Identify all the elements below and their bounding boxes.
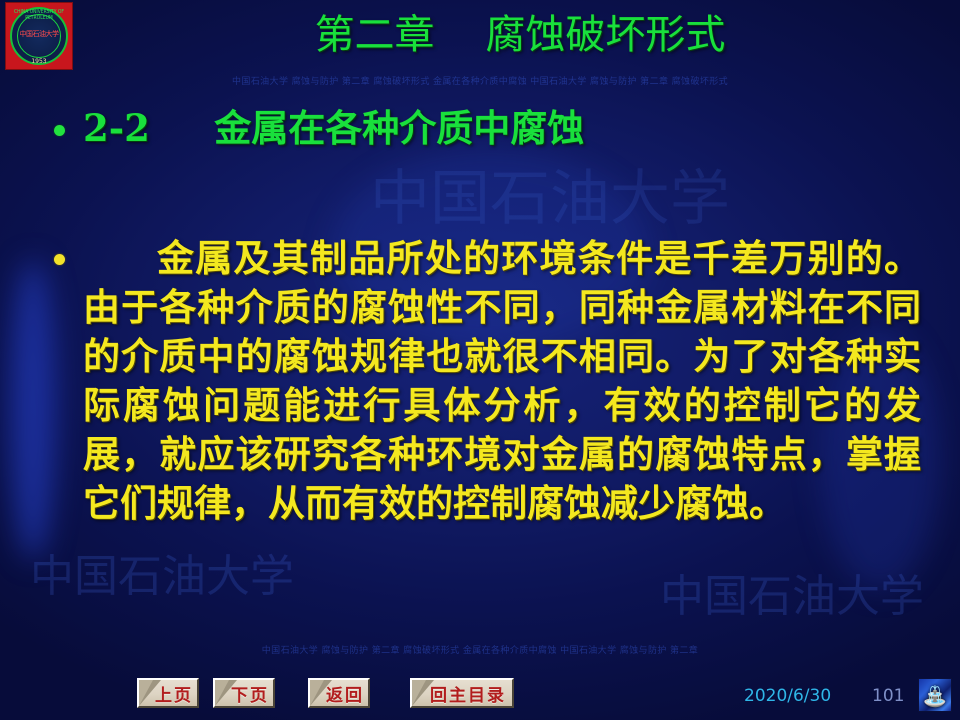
prev-page-button-label: 上页 xyxy=(139,680,197,706)
menorah-glyph: ⛲ xyxy=(923,686,948,706)
return-button[interactable]: 返回 xyxy=(308,678,370,708)
watermark-band-bottom: 中国石油大学 腐蚀与防护 第二章 腐蚀破坏形式 金属在各种介质中腐蚀 中国石油大… xyxy=(0,643,960,656)
next-page-button[interactable]: 下页 xyxy=(213,678,275,708)
main-menu-button-label: 回主目录 xyxy=(412,680,512,706)
watermark-ghost-left: 中国石油大学 xyxy=(30,540,294,604)
watermark-ghost-right: 中国石油大学 xyxy=(660,560,924,624)
slide-header: CHINA UNIVERSITY OF PETROLEUM 中国石油大学 195… xyxy=(0,0,960,72)
logo-year: 1953 xyxy=(6,58,72,65)
paragraph-text: 金属及其制品所处的环境条件是千差万别的。由于各种介质的腐蚀性不同，同种金属材料在… xyxy=(83,234,921,528)
paragraph-row: 金属及其制品所处的环境条件是千差万别的。由于各种介质的腐蚀性不同，同种金属材料在… xyxy=(54,234,934,528)
logo-center-text: 中国石油大学 xyxy=(6,29,72,39)
next-page-button-label: 下页 xyxy=(215,680,273,706)
slide-canvas: 中国石油大学 中国石油大学 中国石油大学 中国石油大学 腐蚀与防护 第二章 腐蚀… xyxy=(0,0,960,720)
chapter-title: 第二章 腐蚀破坏形式 xyxy=(120,8,920,62)
bullet-dot-icon-yellow xyxy=(54,254,65,265)
slide-footer: 上页 下页 返回 回主目录 2020/6/30 101 xyxy=(0,672,960,720)
logo-arc-text: CHINA UNIVERSITY OF PETROLEUM xyxy=(9,9,68,21)
bullet-dot-icon-green xyxy=(54,125,65,136)
return-button-label: 返回 xyxy=(310,680,368,706)
bg-glow-left xyxy=(10,260,56,560)
watermark-band-top: 中国石油大学 腐蚀与防护 第二章 腐蚀破坏形式 金属在各种介质中腐蚀 中国石油大… xyxy=(0,74,960,87)
university-logo: CHINA UNIVERSITY OF PETROLEUM 中国石油大学 195… xyxy=(5,2,73,70)
main-menu-button[interactable]: 回主目录 xyxy=(410,678,514,708)
footer-date: 2020/6/30 xyxy=(744,686,831,706)
footer-page-number: 101 xyxy=(872,686,904,706)
section-heading-text: 2-2 金属在各种介质中腐蚀 xyxy=(83,105,584,151)
prev-page-button[interactable]: 上页 xyxy=(137,678,199,708)
watermark-ghost-mid: 中国石油大学 xyxy=(370,150,730,237)
decorative-menorah-icon: ⛲ xyxy=(918,678,952,712)
section-heading-row: 2-2 金属在各种介质中腐蚀 xyxy=(54,105,924,151)
